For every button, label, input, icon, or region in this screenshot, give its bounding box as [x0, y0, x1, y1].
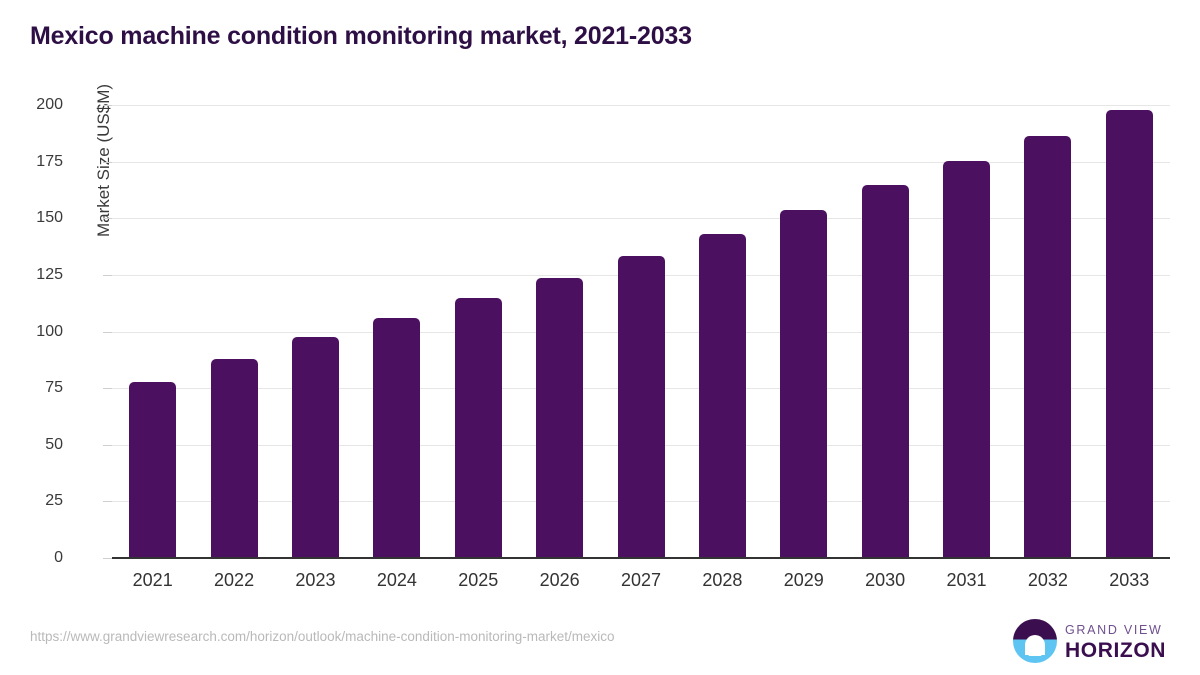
- y-tick-mark: [103, 445, 112, 446]
- y-tick-label: 125: [3, 266, 63, 284]
- page-title: Mexico machine condition monitoring mark…: [30, 22, 692, 51]
- gridline: [112, 162, 1170, 163]
- x-tick-label: 2028: [682, 570, 762, 591]
- sun-dome-shape: [1025, 635, 1045, 655]
- horizon-line-2: [1029, 654, 1042, 657]
- bar[interactable]: [536, 278, 583, 558]
- y-tick-mark: [103, 388, 112, 389]
- x-tick-label: 2024: [357, 570, 437, 591]
- y-tick-label: 75: [3, 379, 63, 397]
- horizon-circle-icon: [1013, 619, 1057, 663]
- chart-page: Mexico machine condition monitoring mark…: [0, 0, 1200, 675]
- brand-logo[interactable]: GRAND VIEW HORIZON: [1013, 617, 1173, 667]
- y-tick-mark: [103, 558, 112, 559]
- bar[interactable]: [943, 161, 990, 558]
- y-tick-label: 25: [3, 492, 63, 510]
- bar[interactable]: [129, 382, 176, 558]
- x-tick-label: 2022: [194, 570, 274, 591]
- logo-text-grand-view: GRAND VIEW: [1065, 623, 1163, 637]
- bar[interactable]: [373, 318, 420, 558]
- y-tick-label: 100: [3, 323, 63, 341]
- x-tick-label: 2030: [845, 570, 925, 591]
- x-tick-label: 2029: [764, 570, 844, 591]
- x-axis-line: [112, 557, 1170, 559]
- source-url[interactable]: https://www.grandviewresearch.com/horizo…: [30, 629, 615, 644]
- gridline: [112, 105, 1170, 106]
- y-tick-mark: [103, 218, 112, 219]
- x-tick-label: 2025: [438, 570, 518, 591]
- x-tick-label: 2033: [1089, 570, 1169, 591]
- y-tick-label: 150: [3, 209, 63, 227]
- bar[interactable]: [1024, 136, 1071, 558]
- bar[interactable]: [699, 234, 746, 558]
- x-tick-label: 2032: [1008, 570, 1088, 591]
- y-tick-mark: [103, 501, 112, 502]
- y-tick-label: 175: [3, 153, 63, 171]
- y-tick-label: 50: [3, 436, 63, 454]
- x-tick-label: 2031: [927, 570, 1007, 591]
- bar[interactable]: [1106, 110, 1153, 558]
- y-axis-title: Market Size (US$M): [94, 84, 114, 237]
- y-tick-mark: [103, 162, 112, 163]
- bar[interactable]: [455, 298, 502, 558]
- horizon-line-1: [1026, 649, 1045, 652]
- bar[interactable]: [618, 256, 665, 558]
- y-tick-mark: [103, 105, 112, 106]
- x-tick-label: 2023: [275, 570, 355, 591]
- x-tick-label: 2021: [113, 570, 193, 591]
- bar[interactable]: [292, 337, 339, 558]
- y-tick-mark: [103, 332, 112, 333]
- plot-area: Market Size (US$M) 025507510012515017520…: [112, 105, 1170, 558]
- y-tick-label: 200: [3, 96, 63, 114]
- y-tick-mark: [103, 275, 112, 276]
- bar[interactable]: [780, 210, 827, 558]
- bar[interactable]: [211, 359, 258, 558]
- x-tick-label: 2026: [520, 570, 600, 591]
- x-tick-label: 2027: [601, 570, 681, 591]
- logo-text-horizon: HORIZON: [1065, 639, 1166, 663]
- bar[interactable]: [862, 185, 909, 558]
- gridline: [112, 218, 1170, 219]
- y-tick-label: 0: [3, 549, 63, 567]
